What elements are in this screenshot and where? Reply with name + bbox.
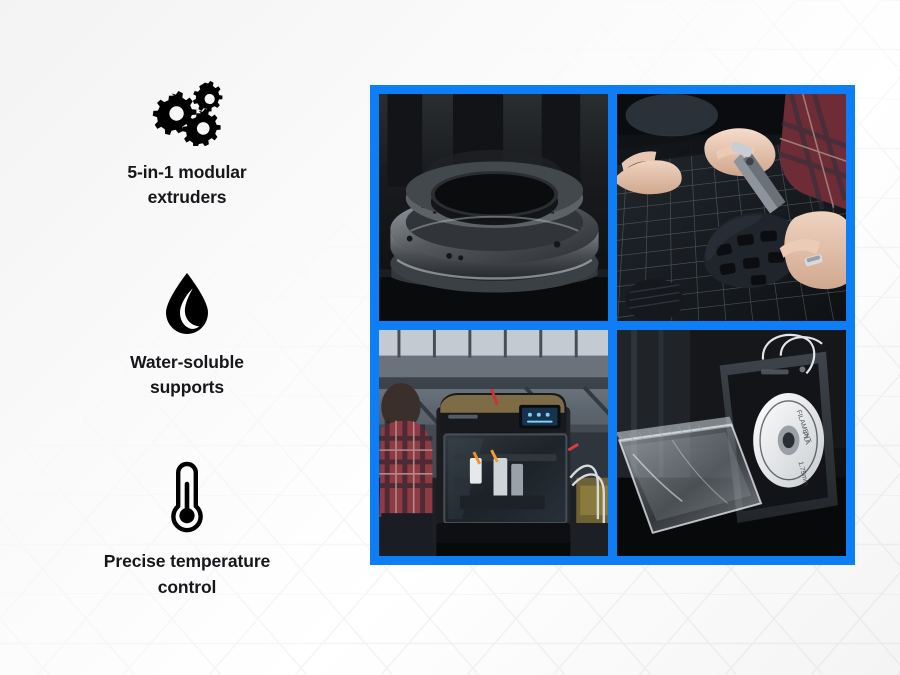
feature-item-modular-extruders: 5-in-1 modular extruders <box>62 80 312 211</box>
feature-item-water-soluble-supports: Water-soluble supports <box>62 272 312 401</box>
grid-cell-filament-bay: FILAMENT PLA 1.75mm <box>617 330 846 557</box>
gears-icon <box>149 80 225 146</box>
feature-label-temperature-control: Precise temperature control <box>104 549 270 600</box>
feature-list: 5-in-1 modular extruders Water-soluble s… <box>62 80 312 600</box>
image-grid: FILAMENT PLA 1.75mm <box>370 85 855 565</box>
grid-cell-support-removal <box>617 94 846 321</box>
feature-label-water-soluble-supports: Water-soluble supports <box>130 350 244 401</box>
grid-cell-industrial-printer <box>379 330 608 557</box>
feature-label-modular-extruders: 5-in-1 modular extruders <box>127 160 246 211</box>
promo-panel: 5-in-1 modular extruders Water-soluble s… <box>0 0 900 675</box>
grid-cell-printed-ring-part <box>379 94 608 321</box>
thermometer-icon <box>165 461 209 535</box>
water-drop-icon <box>163 272 211 336</box>
feature-item-temperature-control: Precise temperature control <box>62 461 312 600</box>
